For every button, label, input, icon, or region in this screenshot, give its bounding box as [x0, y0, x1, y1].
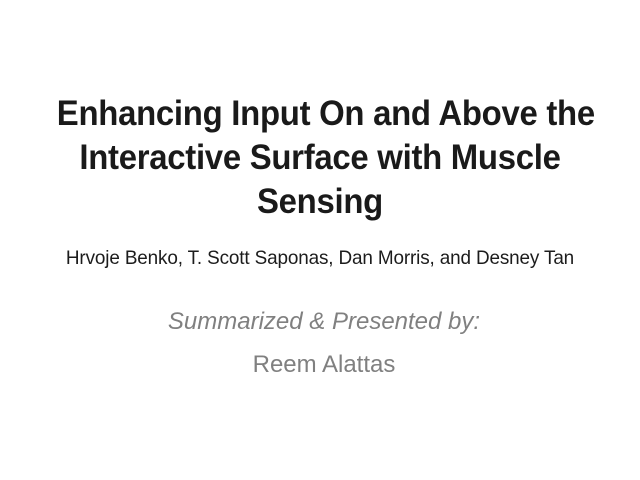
title-line-2: Interactive Surface with Muscle — [57, 136, 583, 180]
author-names: Hrvoje Benko, T. Scott Saponas, Dan Morr… — [39, 245, 602, 271]
title-slide: Enhancing Input On and Above the Interac… — [0, 0, 640, 480]
credit-label: Summarized & Presented by: — [44, 300, 604, 343]
title-line-3: Sensing — [57, 180, 583, 224]
title-line-1: Enhancing Input On and Above the — [57, 92, 583, 136]
slide-title: Enhancing Input On and Above the Interac… — [40, 92, 600, 224]
presenter-credit: Summarized & Presented by: Reem Alattas — [44, 300, 604, 386]
presenter-name: Reem Alattas — [44, 343, 604, 386]
author-list: Hrvoje Benko, T. Scott Saponas, Dan Morr… — [30, 245, 610, 271]
